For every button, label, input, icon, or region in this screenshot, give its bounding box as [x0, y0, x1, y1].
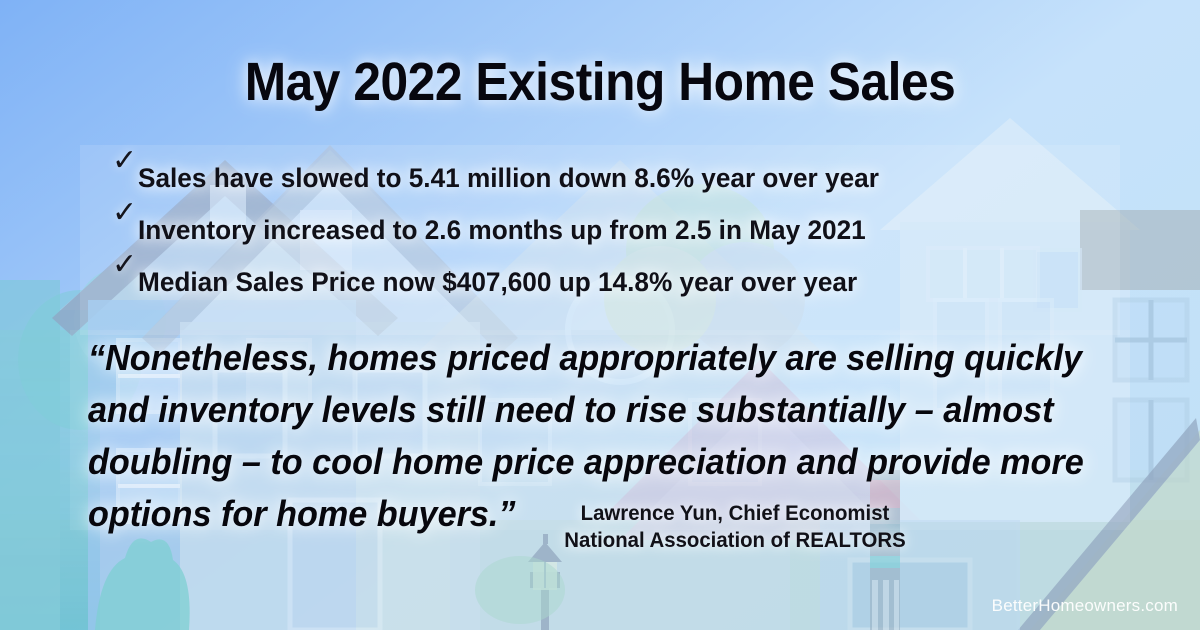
list-item: ✓ Sales have slowed to 5.41 million down… [108, 152, 1108, 204]
bullet-text: Inventory increased to 2.6 months up fro… [138, 215, 866, 245]
quote-line: and inventory levels still need to rise … [88, 384, 1076, 436]
list-item: ✓ Inventory increased to 2.6 months up f… [108, 204, 1108, 256]
check-icon: ✓ [112, 198, 137, 228]
poster-content: May 2022 Existing Home Sales ✓ Sales hav… [0, 0, 1200, 630]
attribution-name: Lawrence Yun, Chief Economist [536, 500, 934, 527]
bullet-list: ✓ Sales have slowed to 5.41 million down… [108, 152, 1108, 308]
quote-line: “Nonetheless, homes priced appropriately… [88, 332, 1076, 384]
bullet-text: Median Sales Price now $407,600 up 14.8%… [138, 267, 857, 297]
bullet-text: Sales have slowed to 5.41 million down 8… [138, 163, 879, 193]
check-icon: ✓ [112, 250, 137, 280]
page-title: May 2022 Existing Home Sales [48, 52, 1152, 112]
check-icon: ✓ [112, 146, 137, 176]
site-watermark: BetterHomeowners.com [992, 596, 1178, 616]
attribution-org: National Association of REALTORS [536, 527, 934, 554]
quote-line: doubling – to cool home price appreciati… [88, 436, 1076, 488]
list-item: ✓ Median Sales Price now $407,600 up 14.… [108, 256, 1108, 308]
infographic-poster: May 2022 Existing Home Sales ✓ Sales hav… [0, 0, 1200, 630]
quote-attribution: Lawrence Yun, Chief Economist National A… [530, 500, 940, 554]
